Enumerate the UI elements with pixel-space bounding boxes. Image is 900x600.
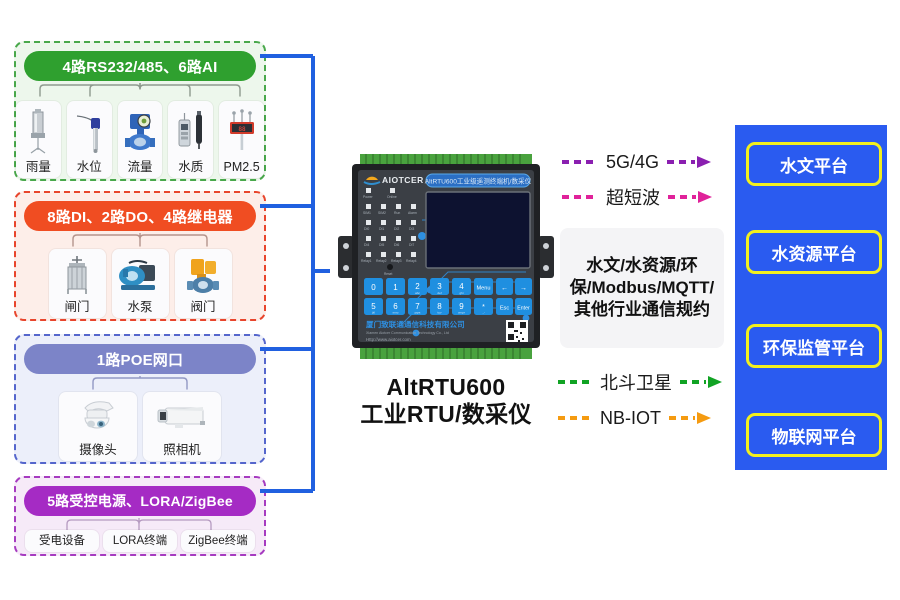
dome-camera-icon [59, 392, 137, 443]
svg-text:Alarm: Alarm [408, 211, 417, 215]
item-label: 阀门 [190, 300, 215, 315]
platforms-panel: 水文平台 水资源平台 环保监管平台 物联网平台 [735, 125, 887, 470]
svg-text:def: def [437, 291, 441, 295]
item-lora-terminal[interactable]: LORA终端 [103, 530, 177, 552]
svg-text:mno: mno [393, 311, 399, 315]
item-water-pump[interactable]: 水泵 [112, 249, 169, 318]
svg-text:tuv: tuv [437, 311, 442, 315]
item-label: PM2.5 [224, 160, 260, 175]
svg-text:Online: Online [387, 195, 397, 199]
device-caption: AltRTU600 工业RTU/数采仪 [330, 374, 562, 428]
bracket-rs232 [16, 83, 264, 97]
water-pump-icon [112, 249, 169, 300]
svg-text:DI1: DI1 [379, 227, 384, 231]
device-lcd-screen [426, 192, 530, 268]
item-flow-meter[interactable]: 流量 [118, 101, 163, 178]
platform-environment-supervision[interactable]: 环保监管平台 [746, 324, 882, 368]
item-label: 受电设备 [39, 534, 85, 548]
svg-text:DI4: DI4 [364, 243, 369, 247]
svg-text:SIM1: SIM1 [363, 211, 371, 215]
svg-text:Reset: Reset [384, 272, 392, 276]
item-sluice-gate[interactable]: 闸门 [49, 249, 106, 318]
wiring-bus [260, 40, 330, 540]
dash-left-icon [560, 157, 600, 167]
panel-power-lora-items: 受电设备 LORA终端 ZigBee终端 [16, 530, 264, 552]
svg-text:DI6: DI6 [394, 243, 399, 247]
item-label: 流量 [127, 160, 152, 175]
bullet-camera-icon [143, 392, 221, 443]
link-beidou: 北斗卫星 [556, 369, 726, 395]
mounting-ear-left [338, 236, 354, 278]
svg-text:SIM2: SIM2 [378, 211, 386, 215]
altrtu600-device[interactable]: AIOTCER AltRTU600工业级遥测终端机/数采仪 [330, 150, 562, 365]
mounting-ear-right [538, 236, 554, 278]
terminal-block-bottom [360, 348, 532, 359]
svg-text:DI3: DI3 [409, 227, 414, 231]
dash-arrow-right-icon [667, 411, 715, 425]
svg-text:.,-: .,- [482, 311, 485, 315]
item-zigbee-terminal[interactable]: ZigBee终端 [181, 530, 255, 552]
item-label: 摄像头 [79, 443, 117, 458]
svg-text:←: ← [501, 285, 508, 292]
item-pm25[interactable]: 88 PM2.5 [219, 101, 264, 178]
item-water-quality[interactable]: 水质 [168, 101, 213, 178]
svg-text:AIOTCER: AIOTCER [382, 175, 424, 185]
diagram-canvas: 4路RS232/485、6路AI 雨量 [0, 0, 900, 600]
platform-hydrology[interactable]: 水文平台 [746, 142, 882, 186]
panel-poe: 1路POE网口 摄像头 [14, 334, 266, 464]
svg-text:wxyz: wxyz [458, 311, 465, 315]
item-label: 水泵 [127, 300, 152, 315]
svg-text:AltRTU600工业级遥测终端机/数采仪: AltRTU600工业级遥测终端机/数采仪 [425, 177, 532, 186]
link-nbiot: NB-IOT [556, 405, 715, 431]
svg-text:pqrs: pqrs [415, 311, 421, 315]
svg-text:Run: Run [394, 211, 400, 215]
svg-text:0: 0 [371, 283, 376, 292]
link-label: 5G/4G [606, 152, 659, 173]
svg-text:DI7: DI7 [409, 243, 414, 247]
svg-text:1: 1 [393, 283, 398, 292]
item-label: 雨量 [26, 160, 51, 175]
dash-left-icon [556, 413, 594, 423]
svg-text:ghi: ghi [459, 291, 463, 295]
link-label: 北斗卫星 [600, 369, 672, 395]
item-label: 闸门 [64, 300, 89, 315]
bracket-poe [16, 376, 264, 390]
svg-text:3: 3 [437, 282, 442, 291]
water-level-sensor-icon [67, 101, 112, 160]
svg-text:Xiamen Aiotcer Communication T: Xiamen Aiotcer Communication Technology … [366, 331, 449, 335]
dash-arrow-right-icon [666, 190, 716, 204]
qr-code-icon [506, 320, 528, 342]
bracket-di-do [16, 233, 264, 247]
rain-gauge-icon [16, 101, 61, 160]
flow-meter-icon [118, 101, 163, 160]
dash-left-icon [560, 192, 600, 202]
protocol-box: 水文/水资源/环保/Modbus/MQTT/其他行业通信规约 [560, 228, 724, 348]
water-quality-probe-icon [168, 101, 213, 160]
svg-text:Relay2: Relay2 [376, 259, 387, 263]
platform-iot[interactable]: 物联网平台 [746, 413, 882, 457]
terminal-block-top [360, 154, 532, 165]
svg-text:Menu: Menu [477, 286, 491, 292]
item-dome-camera[interactable]: 摄像头 [59, 392, 137, 461]
item-label: LORA终端 [113, 534, 167, 548]
item-bullet-camera[interactable]: 照相机 [143, 392, 221, 461]
link-label: 超短波 [606, 184, 660, 210]
sluice-gate-icon [49, 249, 106, 300]
svg-text:厦门致联通通信科技有限公司: 厦门致联通通信科技有限公司 [366, 319, 465, 329]
device-title-strip: AltRTU600工业级遥测终端机/数采仪 [425, 174, 532, 187]
svg-text:Enter: Enter [517, 306, 530, 312]
electric-valve-icon [175, 249, 232, 300]
svg-text:4: 4 [459, 282, 464, 291]
panel-di-do-items: 闸门 水泵 [16, 249, 264, 318]
link-5g-4g: 5G/4G [560, 149, 715, 175]
device-caption-line2: 工业RTU/数采仪 [330, 401, 562, 428]
reset-button [387, 264, 393, 270]
dash-arrow-right-icon [665, 155, 715, 169]
link-label: NB-IOT [600, 408, 661, 429]
svg-text:→: → [520, 285, 527, 292]
panel-rs232-ai: 4路RS232/485、6路AI 雨量 [14, 41, 266, 181]
panel-di-do-relay-title: 8路DI、2路DO、4路继电器 [24, 201, 256, 231]
item-label: 水位 [77, 160, 102, 175]
svg-text:DI2: DI2 [394, 227, 399, 231]
svg-text:Relay4: Relay4 [406, 259, 417, 263]
svg-text:Relay1: Relay1 [361, 259, 372, 263]
panel-power-lora-zigbee-title: 5路受控电源、LORA/ZigBee [24, 486, 256, 516]
svg-text:DI0: DI0 [364, 227, 369, 231]
device-caption-line1: AltRTU600 [330, 374, 562, 401]
panel-poe-items: 摄像头 照相机 [16, 392, 264, 461]
platform-water-resources[interactable]: 水资源平台 [746, 230, 882, 274]
item-electric-valve[interactable]: 阀门 [175, 249, 232, 318]
svg-text:DI5: DI5 [379, 243, 384, 247]
item-rain-gauge[interactable]: 雨量 [16, 101, 61, 178]
link-uhf: 超短波 [560, 184, 716, 210]
dash-left-icon [556, 377, 594, 387]
item-label: 照相机 [163, 443, 201, 458]
panel-di-do-relay: 8路DI、2路DO、4路继电器 闸门 [14, 191, 266, 321]
svg-text:Relay3: Relay3 [391, 259, 402, 263]
panel-rs232-items: 雨量 水位 [16, 101, 264, 178]
panel-power-lora-zigbee: 5路受控电源、LORA/ZigBee 受电设备 LORA终端 ZigBee终端 [14, 476, 266, 556]
svg-text:88: 88 [238, 126, 246, 133]
svg-text:2: 2 [415, 282, 420, 291]
item-label: ZigBee终端 [188, 534, 247, 548]
pm25-sensor-icon: 88 [219, 101, 264, 160]
dash-arrow-right-icon [678, 375, 726, 389]
panel-poe-title: 1路POE网口 [24, 344, 256, 374]
svg-text:abc: abc [415, 291, 420, 295]
item-water-level[interactable]: 水位 [67, 101, 112, 178]
svg-text:Power: Power [363, 195, 373, 199]
item-label: 水质 [178, 160, 203, 175]
svg-text:Esc: Esc [500, 306, 510, 312]
svg-text:Http://www.aiotcer.com: Http://www.aiotcer.com [366, 337, 411, 342]
panel-rs232-ai-title: 4路RS232/485、6路AI [24, 51, 256, 81]
item-powered-device[interactable]: 受电设备 [25, 530, 99, 552]
svg-text:jkl: jkl [371, 311, 375, 315]
